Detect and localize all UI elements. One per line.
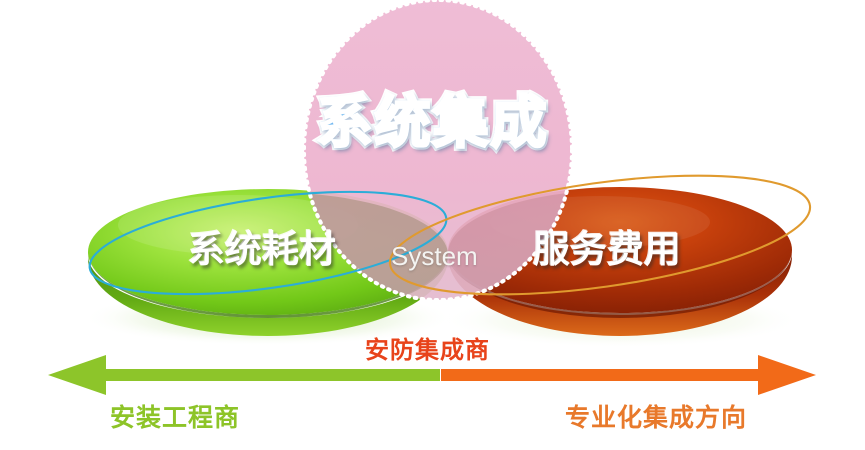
venn-artwork: [0, 0, 865, 450]
right-arrow[interactable]: [441, 355, 816, 395]
axis-center-caption: 安防集成商: [365, 338, 490, 362]
disc-label-service-fees: 服务费用: [533, 231, 681, 268]
system-integration-title: 系统集成: [0, 96, 865, 152]
axis-left-caption: 安装工程商: [110, 405, 240, 430]
overlap-label-system: System: [391, 243, 478, 269]
axis-right-caption: 专业化集成方向: [565, 405, 747, 430]
disc-label-system-consumables: 系统耗材: [188, 231, 336, 268]
diagram-canvas: 系统集成 系统集成 系统耗材 服务费用 System 安防集成商 安装工程商 专…: [0, 0, 865, 450]
